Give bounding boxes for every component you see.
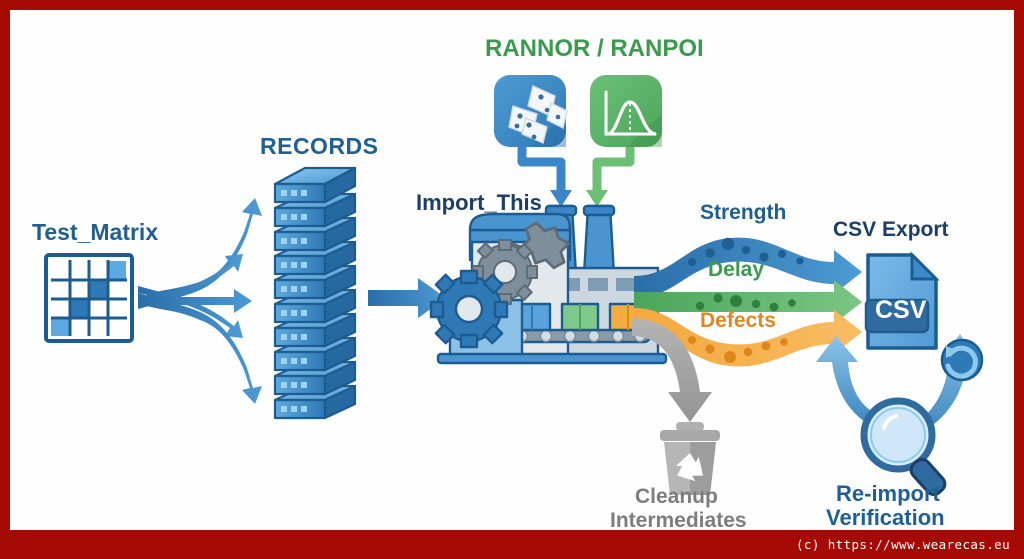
- watermark-text: (c) https://www.wearecas.eu: [796, 537, 1010, 552]
- gray-curved-arrow-icon: [632, 318, 712, 422]
- grid-matrix-icon: [46, 255, 132, 341]
- factory-icon: [431, 206, 666, 363]
- dice-icon: [494, 75, 567, 147]
- refresh-circle-icon: [942, 340, 982, 380]
- normal-distribution-icon: [590, 75, 662, 147]
- label-reimport-line1: Re-import: [836, 482, 940, 505]
- watermark-bar: (c) https://www.wearecas.eu: [0, 530, 1024, 559]
- label-reimport-line2: Verification: [826, 506, 945, 529]
- label-defects: Defects: [700, 310, 776, 332]
- label-generators: RANNOR / RANPOI: [485, 36, 704, 61]
- page-title-test-matrix: Test_Matrix: [32, 220, 158, 244]
- label-cleanup-line1: Cleanup: [635, 486, 718, 508]
- diagram-artwork: [10, 10, 1014, 530]
- label-records: RECORDS: [260, 134, 379, 158]
- csv-badge-text: CSV: [875, 297, 926, 323]
- label-strength: Strength: [700, 202, 786, 224]
- label-csv-export: CSV Export: [833, 219, 949, 241]
- green-arrowhead-icon: [586, 190, 608, 207]
- label-import-this: Import_This: [416, 191, 542, 214]
- server-stack-icon: [275, 168, 355, 418]
- diagram-canvas: Test_Matrix RECORDS RANNOR / RANPOI Impo…: [10, 10, 1014, 530]
- label-cleanup-line2: Intermediates: [610, 510, 747, 530]
- generator-connector-arrows: [522, 147, 630, 190]
- label-delay: Delay: [708, 259, 764, 281]
- blue-arrowhead-icon: [550, 190, 572, 207]
- image-frame: Test_Matrix RECORDS RANNOR / RANPOI Impo…: [0, 0, 1024, 559]
